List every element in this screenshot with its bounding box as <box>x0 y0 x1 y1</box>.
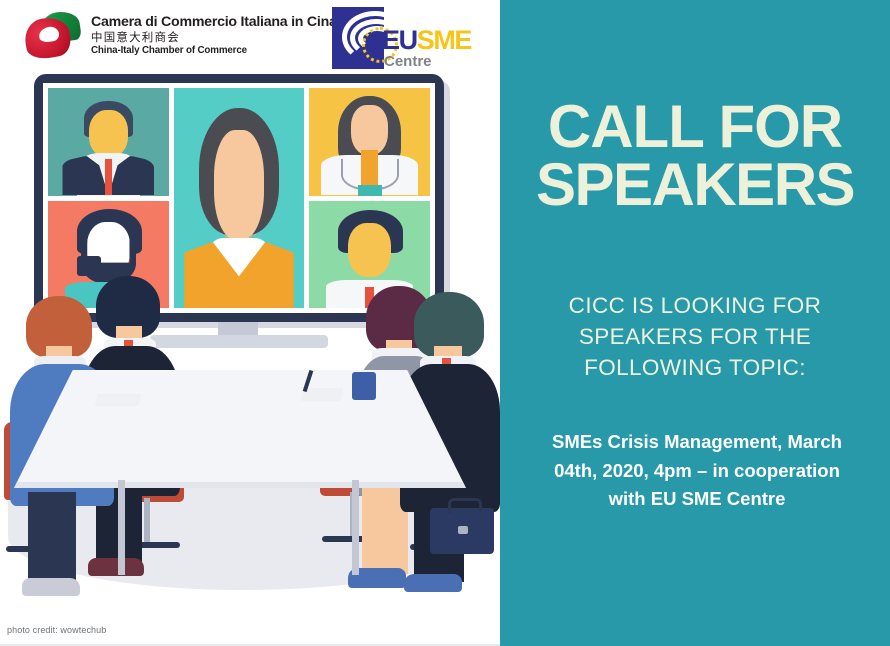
participant-head-icon <box>348 223 391 277</box>
subheadline: CICC IS LOOKING FOR SPEAKERS FOR THE FOL… <box>524 290 866 383</box>
video-tile-center <box>174 88 304 308</box>
poster-canvas: Camera di Commercio Italiana in Cina 中国意… <box>0 0 890 646</box>
headline-line-1: CALL FOR <box>500 98 890 156</box>
eusme-eu-text: EU <box>382 25 417 55</box>
cicc-name-chinese: 中国意大利商会 <box>91 32 337 45</box>
event-details: SMEs Crisis Management, March 04th, 2020… <box>552 428 842 514</box>
attendee-shoe-icon <box>22 578 80 596</box>
eusme-sme-text: SME <box>417 25 471 55</box>
participant-collar-teal-icon <box>358 185 382 196</box>
participant-head-icon <box>351 105 387 154</box>
attendee-leg-icon <box>28 492 76 586</box>
briefcase-icon <box>430 508 494 554</box>
paper-icon <box>95 394 142 406</box>
cicc-name-english: China-Italy Chamber of Commerce <box>91 46 337 57</box>
eu-sme-centre-logo: EUSME Centre <box>332 5 464 75</box>
page-title: CALL FOR SPEAKERS <box>500 98 890 213</box>
video-tile-top-left <box>48 88 169 196</box>
headline-line-2: SPEAKERS <box>500 156 890 214</box>
photo-credit-bar: photo credit: wowtechub <box>0 615 500 646</box>
photo-credit-text: photo credit: wowtechub <box>0 625 106 635</box>
cicc-logo: Camera di Commercio Italiana in Cina 中国意… <box>24 10 337 62</box>
video-conference-meeting-illustration <box>0 70 500 615</box>
conference-table <box>14 370 466 488</box>
eusme-centre-text: Centre <box>384 53 432 70</box>
coffee-mug-icon <box>352 372 376 400</box>
participant-tie-icon <box>105 159 112 196</box>
cicc-emblem-icon <box>24 10 82 62</box>
headset-icon <box>77 256 101 275</box>
participant-head-icon <box>89 110 128 157</box>
table-leg-right <box>352 480 359 575</box>
table-leg-left <box>118 480 125 575</box>
logo-strip: Camera di Commercio Italiana in Cina 中国意… <box>0 0 500 78</box>
eusme-wordmark: EUSME <box>382 27 471 54</box>
video-tile-top-right <box>309 88 430 196</box>
attendee-shoe-icon <box>404 574 462 592</box>
cicc-logo-text: Camera di Commercio Italiana in Cina 中国意… <box>91 15 337 58</box>
text-panel: CALL FOR SPEAKERS CICC IS LOOKING FOR SP… <box>500 0 890 646</box>
cicc-name-italian: Camera di Commercio Italiana in Cina <box>91 15 337 31</box>
illustration-panel: Camera di Commercio Italiana in Cina 中国意… <box>0 0 500 646</box>
